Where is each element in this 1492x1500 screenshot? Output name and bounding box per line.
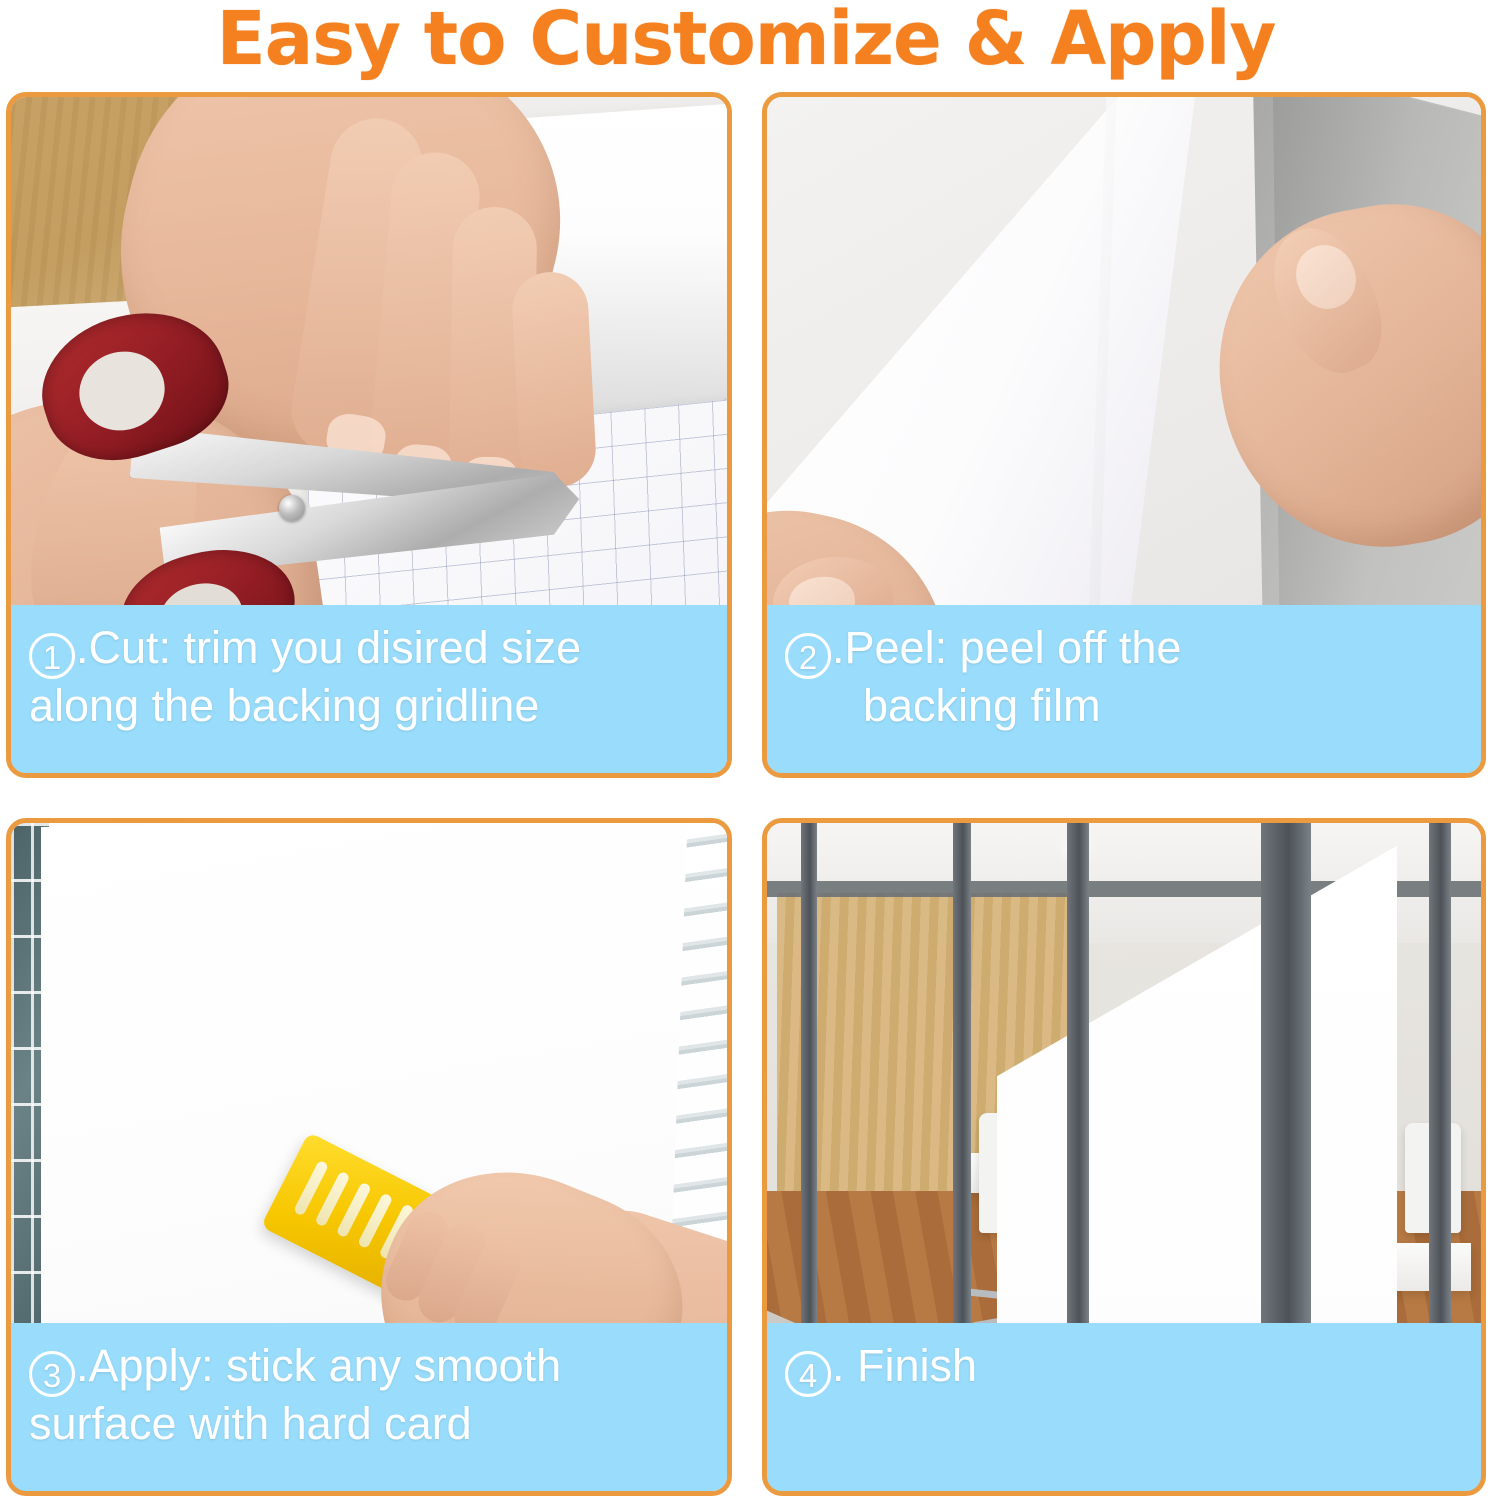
step-number-badge: 4 (785, 1351, 831, 1397)
caption-line: 1.Cut: trim you disired size (29, 621, 727, 679)
caption-text: .Cut: trim you disired size (76, 622, 581, 673)
step-4-caption: 4. Finish (767, 1323, 1481, 1491)
caption-line: backing film (785, 679, 1481, 734)
step-3-caption: 3.Apply: stick any smooth surface with h… (11, 1323, 727, 1491)
caption-line: 3.Apply: stick any smooth (29, 1339, 727, 1397)
step-number-badge: 1 (29, 633, 75, 679)
step-panel-2: 2.Peel: peel off the backing film (762, 92, 1486, 778)
step-panel-4: 4. Finish (762, 818, 1486, 1496)
caption-line: 2.Peel: peel off the (785, 621, 1481, 679)
caption-line: surface with hard card (29, 1397, 727, 1452)
page-title: Easy to Customize & Apply (22, 0, 1469, 82)
caption-line: 4. Finish (785, 1339, 1481, 1397)
step-2-caption: 2.Peel: peel off the backing film (767, 605, 1481, 773)
infographic-sheet: Easy to Customize & Apply (0, 0, 1492, 1500)
step-1-caption: 1.Cut: trim you disired size along the b… (11, 605, 727, 773)
scissors-pivot-screw (279, 495, 305, 521)
step-number-badge: 3 (29, 1351, 75, 1397)
caption-text: .Apply: stick any smooth (76, 1340, 561, 1391)
step-panel-1: 1.Cut: trim you disired size along the b… (6, 92, 732, 778)
finger (510, 270, 597, 489)
caption-line: along the backing gridline (29, 679, 727, 734)
step-number-badge: 2 (785, 633, 831, 679)
caption-text: . Finish (832, 1340, 977, 1391)
caption-text: .Peel: peel off the (832, 622, 1181, 673)
step-panel-3: 3.Apply: stick any smooth surface with h… (6, 818, 732, 1496)
